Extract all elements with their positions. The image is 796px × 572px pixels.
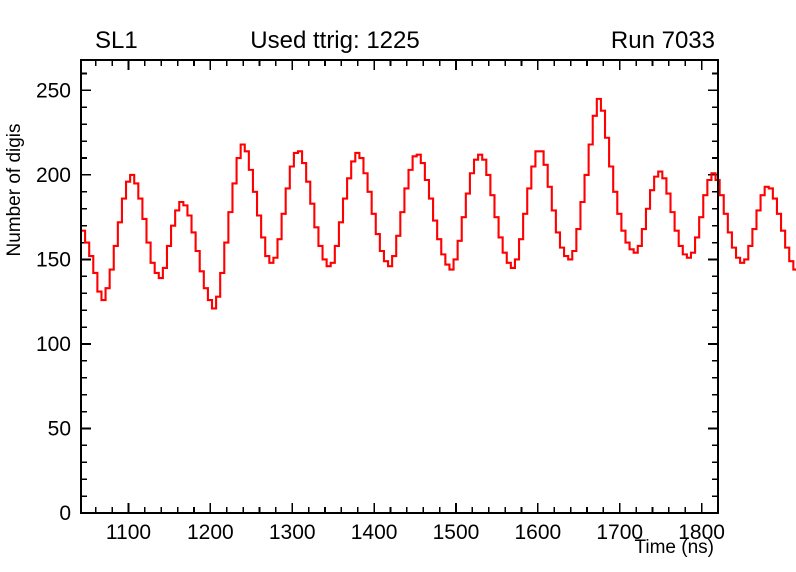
x-tick-label: 1500 (433, 521, 480, 544)
run-number-label: Run 7033 (611, 27, 715, 54)
axis-ticks (81, 60, 718, 513)
plot-frame (81, 60, 718, 513)
y-tick-label: 200 (36, 164, 71, 187)
root-plot-svg: SL1 Used ttrig: 1225 Run 7033 Time (ns) … (0, 0, 796, 572)
y-tick-label: 100 (36, 333, 71, 356)
chart-canvas: SL1 Used ttrig: 1225 Run 7033 Time (ns) … (0, 0, 796, 572)
data-series-line[interactable] (81, 79, 796, 498)
x-tick-label: 1100 (106, 521, 151, 544)
y-axis-title: Number of digis (4, 123, 25, 256)
x-tick-label: 1400 (351, 521, 398, 544)
x-tick-label: 1600 (515, 521, 562, 544)
x-tick-label: 1800 (678, 521, 725, 544)
y-tick-label: 250 (36, 79, 71, 102)
y-tick-label: 50 (48, 417, 71, 440)
y-tick-label: 0 (59, 502, 71, 525)
x-tick-label: 1200 (187, 521, 234, 544)
data-series-group[interactable] (81, 79, 796, 498)
x-tick-label: 1700 (596, 521, 643, 544)
axis-tick-labels: 1100120013001400150016001700180005010015… (36, 79, 725, 544)
chart-title-ttrig: Used ttrig: 1225 (250, 27, 419, 54)
x-tick-label: 1300 (269, 521, 316, 544)
y-tick-label: 150 (36, 248, 71, 271)
panel-label-sl: SL1 (95, 27, 138, 54)
